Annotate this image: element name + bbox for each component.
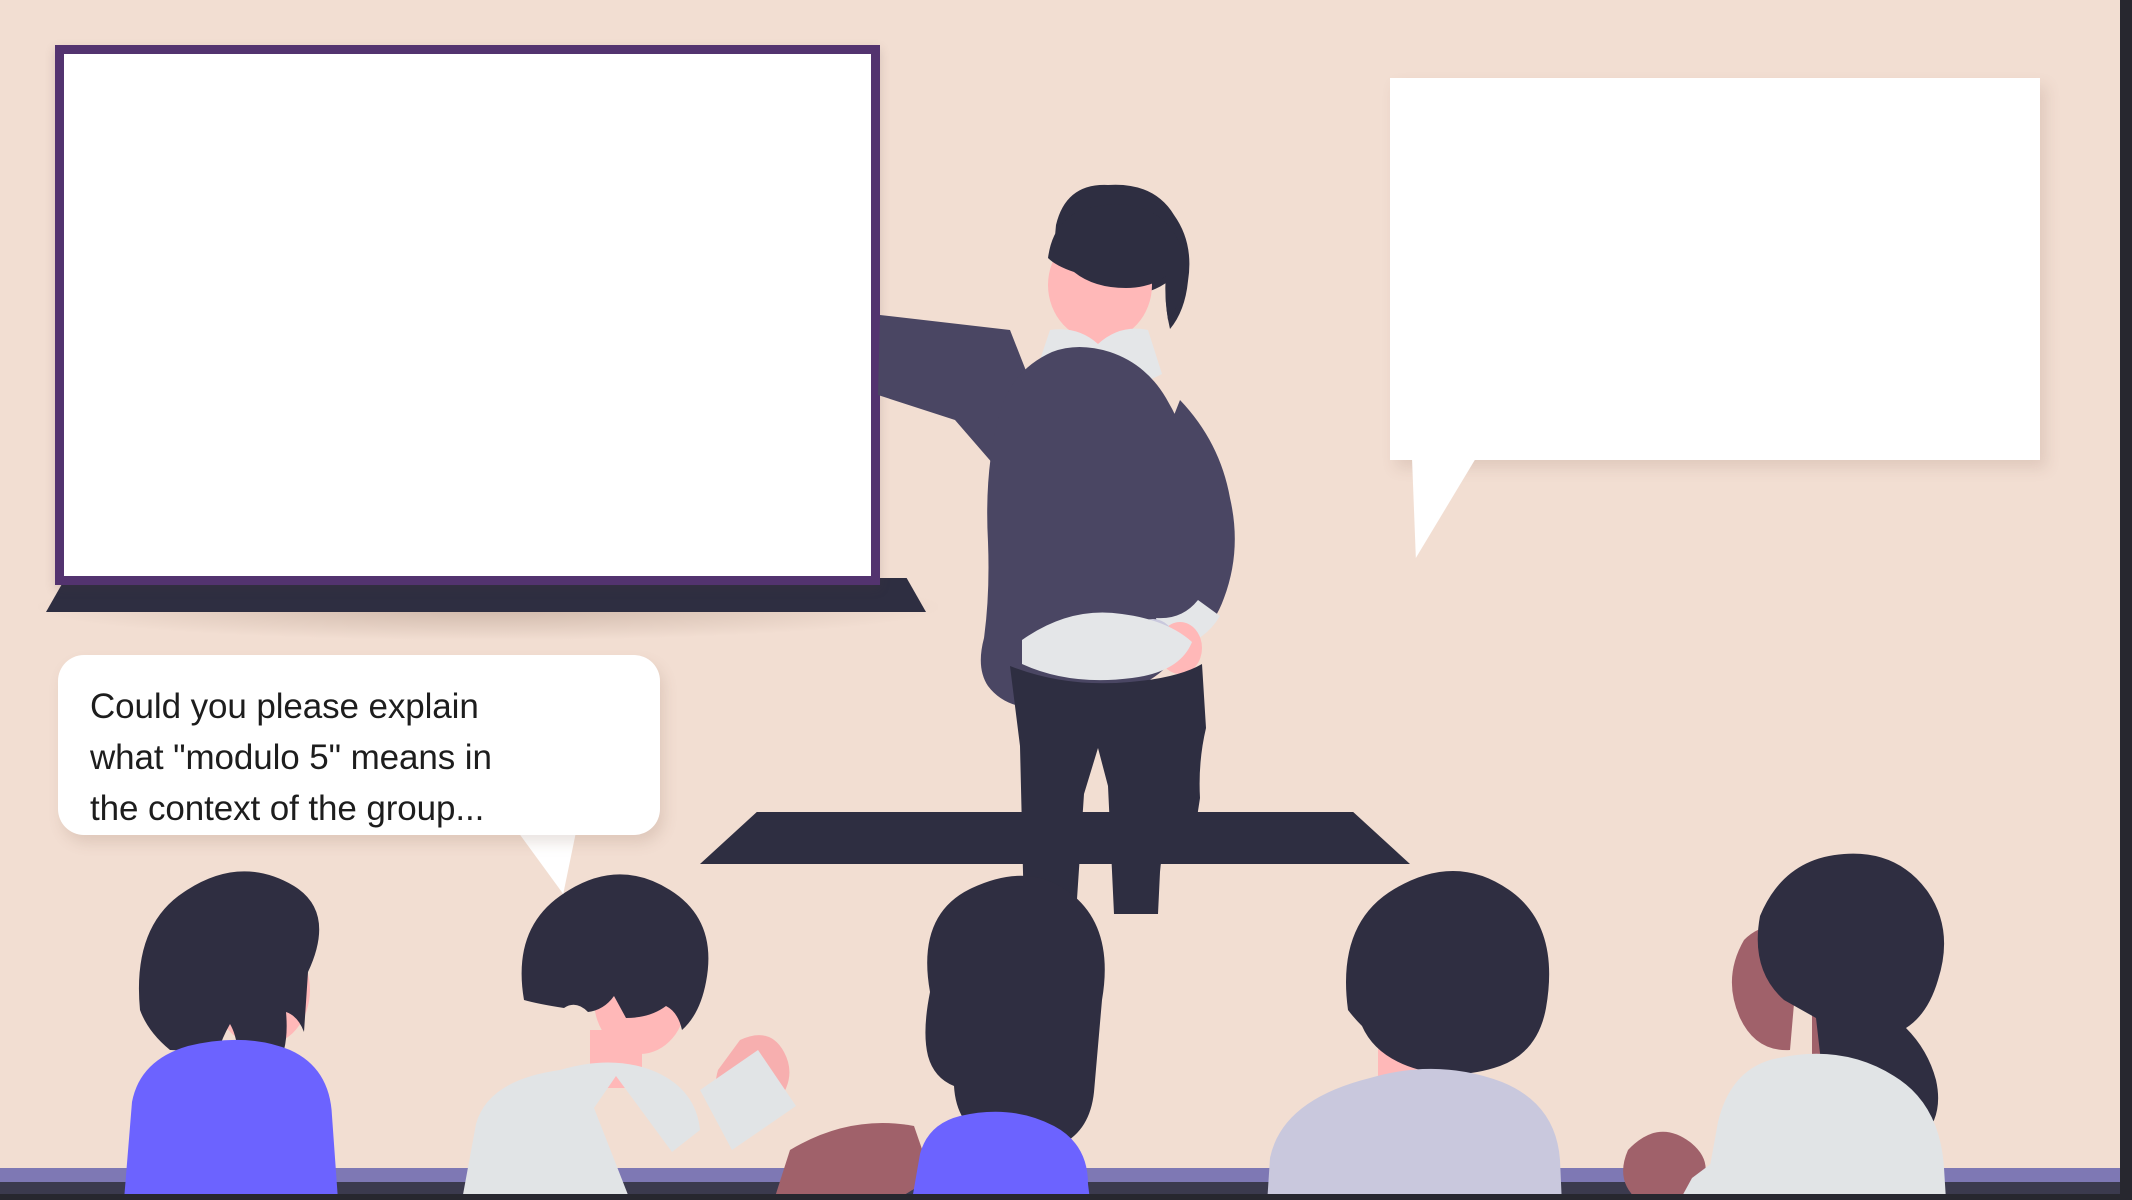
student-5: [1623, 854, 1948, 1200]
student-4: [1264, 871, 1564, 1200]
students-row: [0, 0, 2132, 1200]
student-1: [124, 871, 338, 1200]
page-edge-right: [2120, 0, 2132, 1200]
page-edge-bottom: [0, 1194, 2132, 1200]
classroom-scene: Could you please explain what "modulo 5"…: [0, 0, 2132, 1200]
student-4-body: [1264, 1069, 1564, 1200]
student-3-hair: [925, 876, 1104, 1153]
student-3-arm: [774, 1123, 932, 1200]
student-question-bubble[interactable]: Could you please explain what "modulo 5"…: [58, 655, 660, 835]
student-1-body: [124, 1040, 338, 1200]
student-2: [462, 874, 796, 1200]
student-2-body: [462, 1062, 700, 1200]
student-4-hair: [1346, 871, 1549, 1074]
student-question-text: Could you please explain what "modulo 5"…: [90, 681, 630, 834]
student-3: [774, 876, 1105, 1200]
